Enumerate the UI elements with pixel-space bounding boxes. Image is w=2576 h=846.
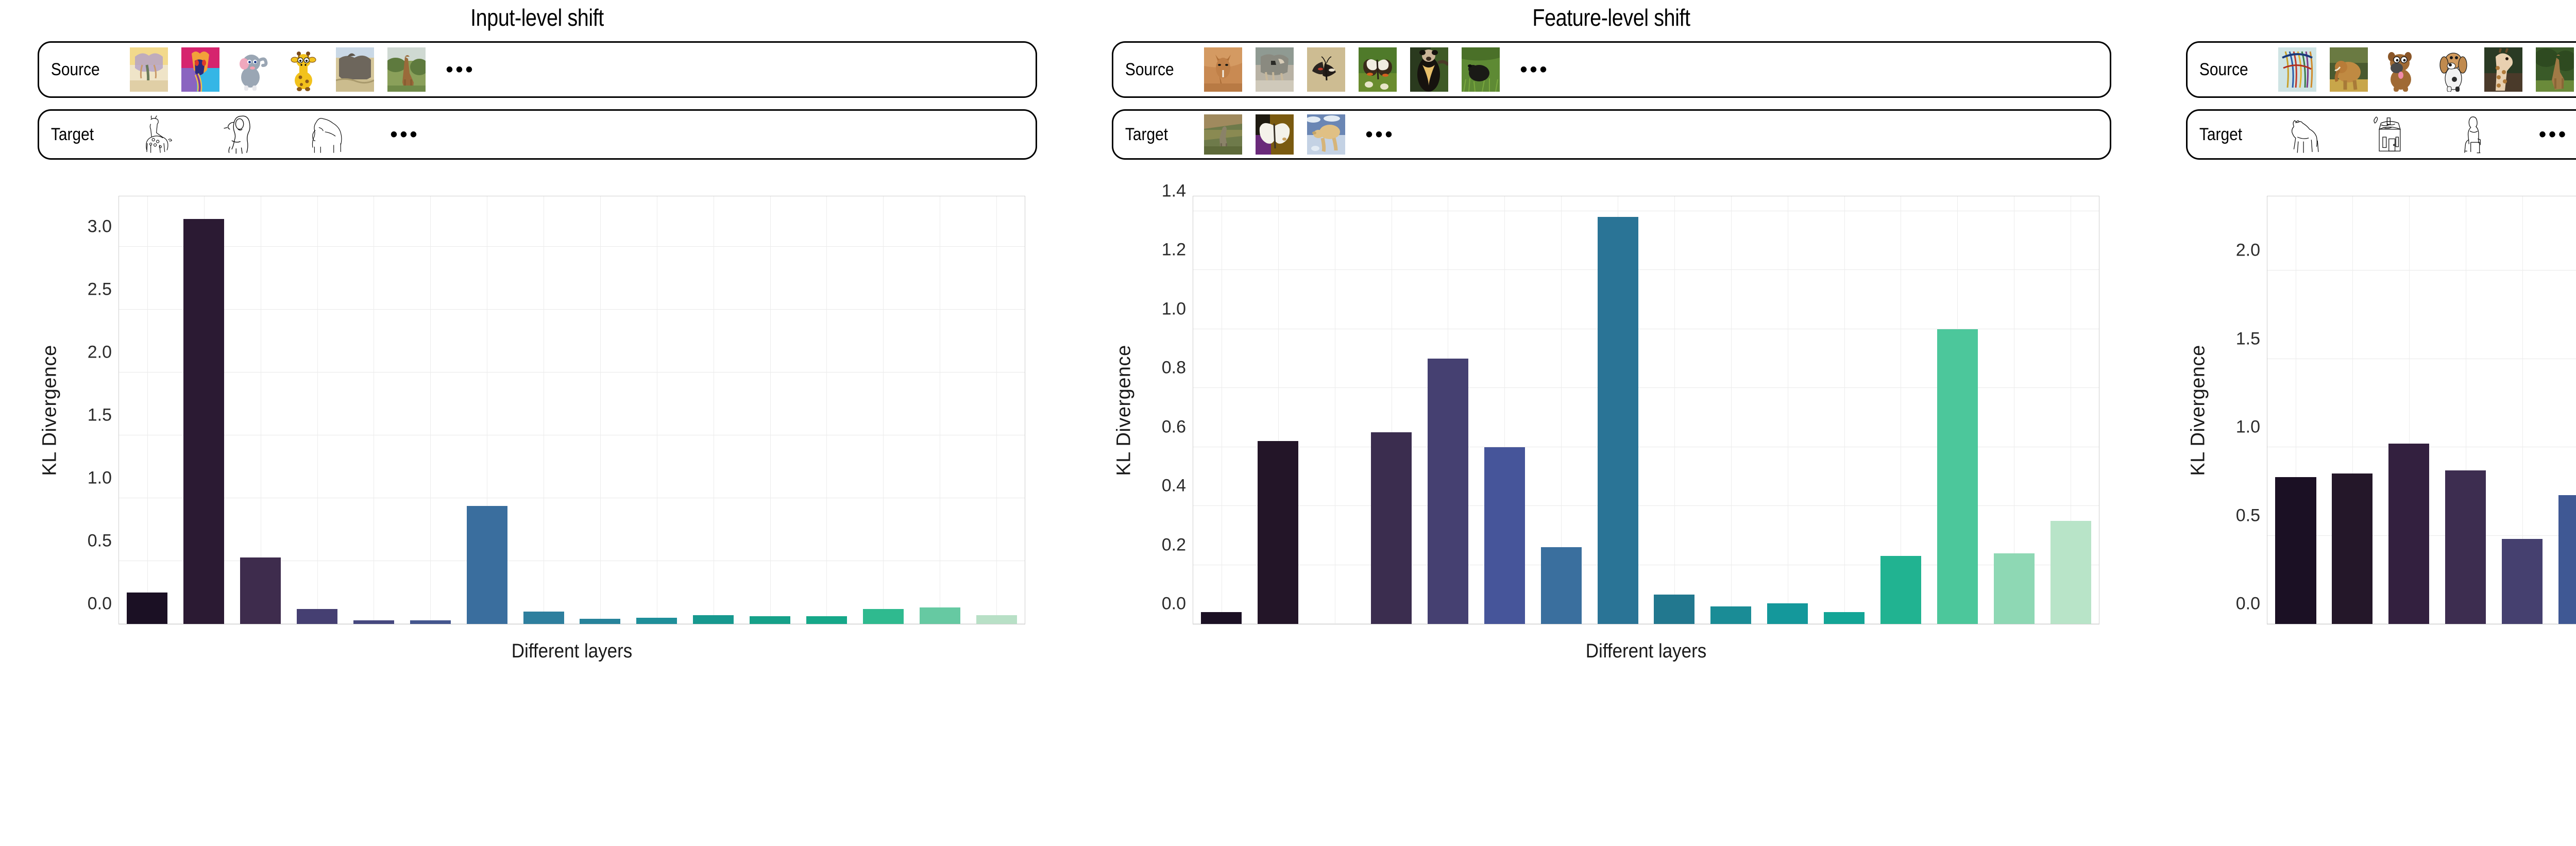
x-axis-label: Different layers [1229, 640, 2063, 663]
bar-slot [1363, 196, 1420, 624]
thumb-elephant-oil-painting [2330, 47, 2368, 92]
thumb-giraffe-cartoon-clipart [284, 47, 323, 92]
bar [636, 618, 677, 624]
source-thumbnails: ••• [130, 47, 1036, 92]
bar-slot [1646, 196, 1703, 624]
bar [1598, 217, 1638, 624]
plot-area: 0.00.51.01.52.0 [2267, 196, 2576, 624]
bar [1541, 547, 1582, 624]
bar-slot [1873, 196, 1929, 624]
source-label: Source [1113, 60, 1193, 80]
thumb-fox-photo-gravel [1256, 47, 1294, 92]
y-tick-label: 1.4 [1162, 181, 1186, 201]
bar-series [2267, 196, 2576, 624]
bar-slot [1193, 196, 1250, 624]
bar-slot [1929, 196, 1986, 624]
target-label: Target [2188, 125, 2267, 145]
y-tick-label: 0.2 [1162, 535, 1186, 555]
thumb-elephant-photo [336, 47, 374, 92]
source-label: Source [39, 60, 119, 80]
y-tick-label: 1.5 [2236, 329, 2260, 349]
bar [693, 615, 734, 624]
y-tick-label: 0.5 [88, 531, 112, 551]
y-tick-label: 1.0 [1162, 299, 1186, 319]
panel-title: Input-level shift [93, 0, 981, 34]
y-tick-label: 0.4 [1162, 476, 1186, 496]
target-thumbnails: ••• [130, 114, 1036, 155]
bar-slot [1420, 196, 1477, 624]
bar-slot [911, 196, 968, 624]
bar [2445, 470, 2486, 624]
bar-slot [1533, 196, 1589, 624]
bar [183, 219, 224, 624]
thumb-white-butterfly-photo [1256, 114, 1294, 155]
source-ellipsis: ••• [1520, 66, 1550, 73]
bar [1484, 447, 1525, 624]
bar-series [1193, 196, 2099, 624]
y-axis-label: KL Divergence [2187, 196, 2210, 624]
bar-slot [968, 196, 1025, 624]
bar [2332, 473, 2372, 624]
x-axis-label: Different layers [2303, 640, 2576, 663]
bar-slot [515, 196, 572, 624]
target-row: Target ••• [1112, 109, 2111, 160]
bar-slot [402, 196, 459, 624]
bar-slot [2494, 196, 2551, 624]
thumb-bear-photo-black [1410, 47, 1448, 92]
bar [2388, 444, 2429, 624]
bar [1258, 441, 1298, 624]
bar-slot [1759, 196, 1816, 624]
thumb-elephant-sketch-side [299, 114, 355, 155]
y-tick-label: 0.5 [2236, 505, 2260, 526]
y-tick-label: 0.8 [1162, 358, 1186, 378]
y-tick-label: 0.6 [1162, 417, 1186, 437]
bar [1880, 556, 1921, 624]
source-row: Source ••• [2186, 41, 2576, 98]
bar [1937, 329, 1978, 624]
source-label: Source [2188, 60, 2267, 80]
bar-slot [2437, 196, 2494, 624]
bar-slot [2551, 196, 2576, 624]
three-panel-figure: Input-level shift Source [0, 0, 2576, 846]
thumb-giraffe-colorful-artwork [181, 47, 219, 92]
chart-output-level-shift: KL Divergence 0.00.51.01.52.0 Different … [2169, 169, 2576, 685]
bar-slot [855, 196, 911, 624]
x-axis-label: Different layers [155, 640, 989, 663]
bar-slot [799, 196, 855, 624]
source-row: Source ••• [1112, 41, 2111, 98]
bar [580, 619, 620, 624]
bar-slot [176, 196, 232, 624]
bar [1371, 432, 1412, 624]
y-tick-label: 1.0 [88, 468, 112, 488]
bar [1824, 612, 1865, 624]
y-tick-label: 2.5 [88, 279, 112, 299]
thumb-elephant-abstract-painting [2278, 47, 2316, 92]
target-label: Target [39, 125, 119, 145]
bar [240, 557, 281, 624]
bar [1428, 359, 1468, 624]
target-thumbnails: ••• [2278, 114, 2576, 155]
thumb-deer-photo-hillside [1204, 114, 1242, 155]
bar-slot [2042, 196, 2099, 624]
bar [2558, 495, 2576, 624]
y-tick-label: 1.2 [1162, 240, 1186, 260]
bar [750, 616, 790, 624]
bar-slot [1986, 196, 2042, 624]
bar-slot [1476, 196, 1533, 624]
bar-slot [742, 196, 799, 624]
y-tick-label: 0.0 [1162, 594, 1186, 614]
bar [1201, 612, 1242, 624]
bar [1994, 553, 2035, 624]
bar [1767, 603, 1808, 624]
y-tick-label: 0.0 [2236, 594, 2260, 614]
thumb-fox-photo [1204, 47, 1242, 92]
bar [1710, 606, 1751, 624]
bar-slot [685, 196, 742, 624]
bar [523, 612, 564, 624]
bar [863, 609, 904, 624]
bar-slot [2381, 196, 2437, 624]
y-tick-label: 3.0 [88, 216, 112, 236]
thumb-giraffe-photo-head [2484, 47, 2522, 92]
plot-area: 0.00.51.01.52.02.53.0 [118, 196, 1025, 624]
chart-input-level-shift: KL Divergence 0.00.51.01.52.02.53.0 Diff… [21, 169, 1054, 685]
bar [2502, 539, 2543, 624]
chart-feature-level-shift: KL Divergence 0.00.20.40.60.81.01.21.4 D… [1095, 169, 2128, 685]
target-row: Target ••• [2186, 109, 2576, 160]
bar [297, 609, 337, 624]
y-tick-label: 1.5 [88, 405, 112, 425]
thumb-polar-bear-photo-snow [1307, 114, 1345, 155]
target-row: Target ••• [38, 109, 1037, 160]
thumb-elephant-sketch-front [214, 114, 271, 155]
bar-slot [1589, 196, 1646, 624]
target-thumbnails: ••• [1204, 114, 2110, 155]
bar-slot [572, 196, 629, 624]
panel-title: Output-level shift [2241, 0, 2576, 34]
bar-slot [459, 196, 515, 624]
bar-slot [289, 196, 346, 624]
bar-slot [119, 196, 176, 624]
bar-slot [1307, 196, 1363, 624]
y-tick-label: 2.0 [2236, 241, 2260, 261]
bar [2275, 477, 2316, 624]
thumb-butterfly-photo-flower [1359, 47, 1397, 92]
target-label: Target [1113, 125, 1193, 145]
thumb-giraffe-sketch [130, 114, 187, 155]
target-ellipsis: ••• [1366, 131, 1395, 138]
bar-slot [2267, 196, 2324, 624]
source-row: Source ••• [38, 41, 1037, 98]
panel-title: Feature-level shift [1167, 0, 2055, 34]
source-thumbnails: ••• [1204, 47, 2110, 92]
panel-feature-level-shift: Feature-level shift Source [1074, 0, 2148, 846]
thumb-person-sitting-sketch [2447, 114, 2504, 155]
target-ellipsis: ••• [391, 131, 420, 138]
thumb-elephant-cartoon-clipart [233, 47, 271, 92]
y-tick-label: 0.0 [88, 594, 112, 614]
bar [976, 615, 1017, 624]
bar [467, 506, 507, 624]
thumb-horse-sketch [2278, 114, 2335, 155]
thumb-elephant-watercolor-painting [130, 47, 168, 92]
bar-slot [1816, 196, 1873, 624]
plot-area: 0.00.20.40.60.81.01.21.4 [1193, 196, 2099, 624]
y-tick-label: 1.0 [2236, 417, 2260, 437]
target-ellipsis: ••• [2539, 131, 2568, 138]
thumb-bear-photo-grass [1462, 47, 1500, 92]
bar [1654, 595, 1694, 624]
bar [353, 620, 394, 624]
source-ellipsis: ••• [446, 66, 476, 73]
bar [920, 607, 960, 624]
y-tick-label: 2.0 [88, 342, 112, 362]
bar [127, 593, 167, 624]
bar [2050, 521, 2091, 624]
bar [806, 616, 847, 624]
thumb-giraffe-photo-tree [2536, 47, 2574, 92]
bar [410, 620, 451, 624]
y-axis-label: KL Divergence [1112, 196, 1136, 624]
thumb-dog-cartoon-clipart [2381, 47, 2419, 92]
bar-slot [346, 196, 402, 624]
bar-series [119, 196, 1025, 624]
y-axis-label: KL Divergence [38, 196, 62, 624]
bar-slot [1703, 196, 1759, 624]
source-thumbnails: ••• [2278, 47, 2576, 92]
bar-slot [2324, 196, 2381, 624]
panel-input-level-shift: Input-level shift Source [0, 0, 1074, 846]
thumb-giraffe-photo-savanna [387, 47, 426, 92]
bar-slot [1250, 196, 1307, 624]
bar-slot [232, 196, 289, 624]
thumb-butterfly-photo-sand [1307, 47, 1345, 92]
thumb-house-sketch [2363, 114, 2419, 155]
bar-slot [629, 196, 685, 624]
thumb-dog-beagle-cartoon [2433, 47, 2471, 92]
panel-output-level-shift: Output-level shift Source [2148, 0, 2576, 846]
